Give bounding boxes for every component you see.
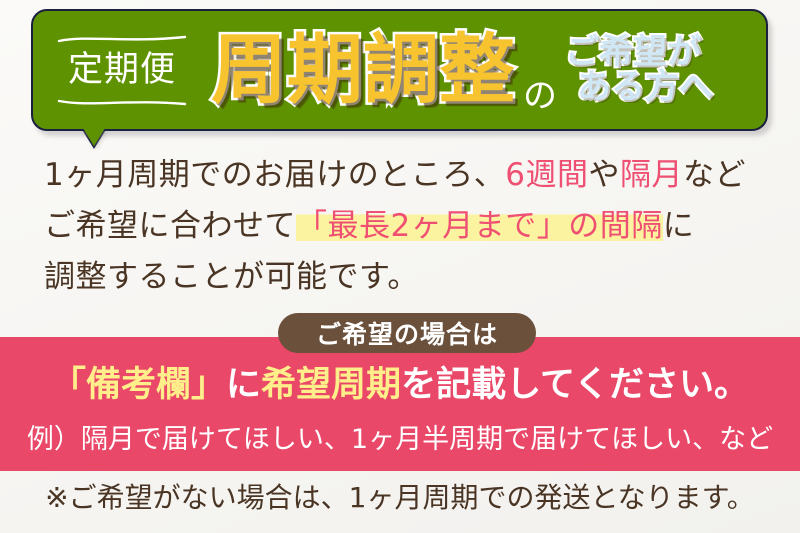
band-main-instruction: 「備考欄」に希望周期を記載してください。 xyxy=(0,363,800,407)
body-line1-part3: など xyxy=(683,157,746,193)
body-line-3: 調整することが可能です。 xyxy=(44,252,774,303)
body-line2-part2: に xyxy=(663,208,695,244)
request-case-pill-label: ご希望の場合は xyxy=(316,315,498,351)
band-main-part2: に xyxy=(226,365,261,405)
header-subtitle-line2: ある方へ xyxy=(577,70,713,105)
body-line-1: 1ヶ月周期でのお届けのところ、6週間や隔月など xyxy=(44,150,774,201)
band-remarks-field-label: 「備考欄」 xyxy=(51,365,226,405)
body-line2-marker: 「最長2ヶ月まで」の間隔 xyxy=(296,208,663,244)
band-example-text: 例）隔月で届けてほしい、1ヶ月半周期で届けてほしい、など xyxy=(0,422,800,458)
header-content: 定期便 周期調整 の ご希望が ある方へ xyxy=(31,9,768,131)
header-subtitle-line1: ご希望が xyxy=(565,35,713,70)
body-paragraph: 1ヶ月周期でのお届けのところ、6週間や隔月など ご希望に合わせて「最長2ヶ月まで… xyxy=(44,150,774,303)
header-banner: 定期便 周期調整 の ご希望が ある方へ xyxy=(0,0,800,146)
subscription-badge-label: 定期便 xyxy=(55,52,189,89)
request-case-pill: ご希望の場合は xyxy=(278,313,536,353)
body-line1-part1: 1ヶ月周期でのお届けのところ、 xyxy=(44,157,505,193)
header-subtitle: ご希望が ある方へ xyxy=(565,35,713,104)
header-particle: の xyxy=(523,79,557,113)
subscription-badge: 定期便 xyxy=(55,52,189,89)
body-line1-part2: や xyxy=(588,157,620,193)
body-line1-highlight-6weeks: 6週間 xyxy=(505,157,588,193)
body-line-2: ご希望に合わせて「最長2ヶ月まで」の間隔に xyxy=(44,201,774,252)
body-line1-highlight-bimonthly: 隔月 xyxy=(620,157,683,193)
header-title: 周期調整 xyxy=(211,32,515,108)
band-main-part4: を記載してください。 xyxy=(401,365,749,405)
footer-note: ※ご希望がない場合は、1ヶ月周期での発送となります。 xyxy=(0,478,800,518)
band-desired-cycle-label: 希望周期 xyxy=(261,365,401,405)
body-line2-part1: ご希望に合わせて xyxy=(44,208,296,244)
badge-top-line-icon xyxy=(57,35,187,44)
badge-bottom-line-icon xyxy=(57,98,187,107)
